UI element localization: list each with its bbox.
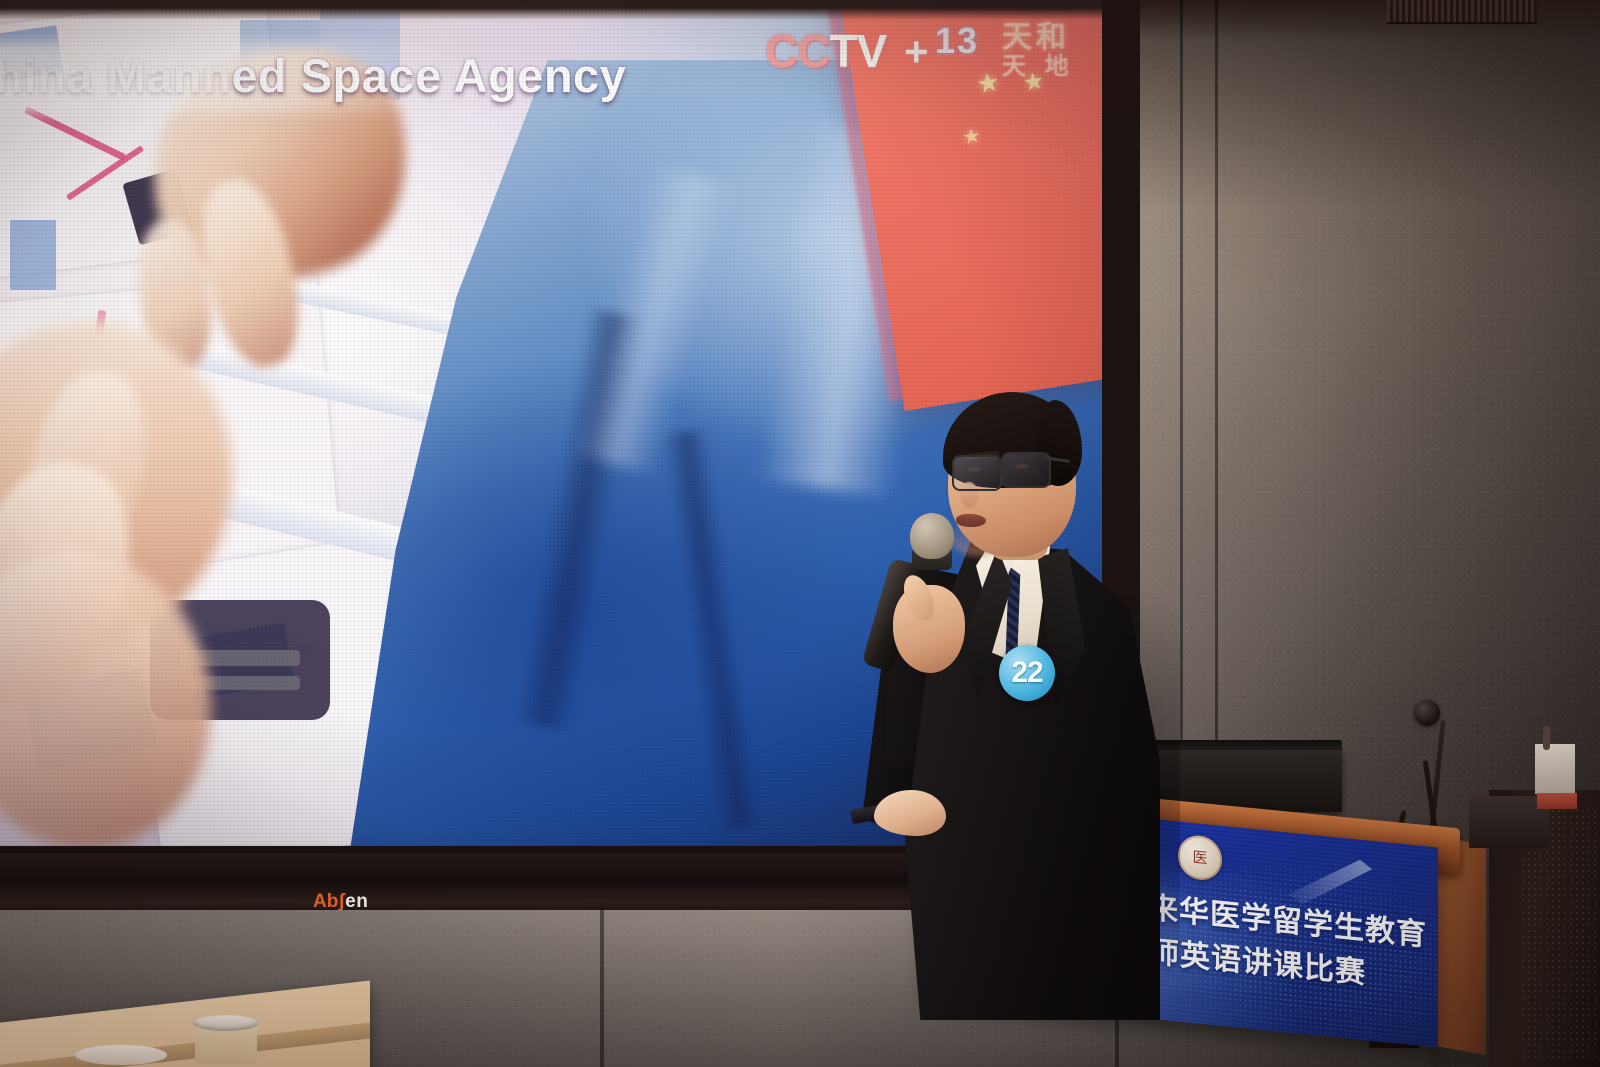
rack-red-device [1537,793,1577,809]
contestant-number-badge: 22 [999,645,1055,701]
speaker-chin-shadow [950,520,1006,556]
cctv-plus-icon: + [904,28,929,76]
speaker-hand-on-podium [874,790,946,836]
video-overlay-title: China Manned Space Agency [0,48,660,103]
emblem-label: 医 [1192,849,1207,865]
gooseneck-mic-head[interactable] [1414,700,1440,726]
ceiling-vent-icon [1387,0,1537,24]
paper-cup-lid [193,1015,259,1031]
photo-scene: ★ ★ ★ CCTV + 13 天和 天 地 China Manned Spac… [0,0,1600,1067]
station-detail [10,220,56,290]
cctv-channel-number: 13 [935,20,979,62]
table-saucer [75,1045,167,1065]
eyeglasses-bridge [996,460,1004,463]
cctv-logo-cc: CC [765,25,829,77]
cctv-logo: CCTV [765,24,886,78]
handheld-microphone-head [910,513,954,559]
rack-cable [1543,726,1550,750]
video-overlay-title-visible: ed Space Agency [231,49,626,102]
badge-number-label: 22 [1011,656,1042,690]
screen-top-letterbox [0,0,1102,20]
flag-star-icon: ★ [975,68,1002,97]
rack-white-device [1535,744,1575,794]
wainscot-seam [600,910,604,1067]
flag-star-icon: ★ [961,126,982,149]
eyeglasses-lens-left [952,455,1002,491]
cmsa-watermark-line2: 天 地 [1002,46,1075,81]
cctv-logo-tv: TV [829,25,886,77]
video-overlay-title-faded: China Mann [0,49,231,102]
